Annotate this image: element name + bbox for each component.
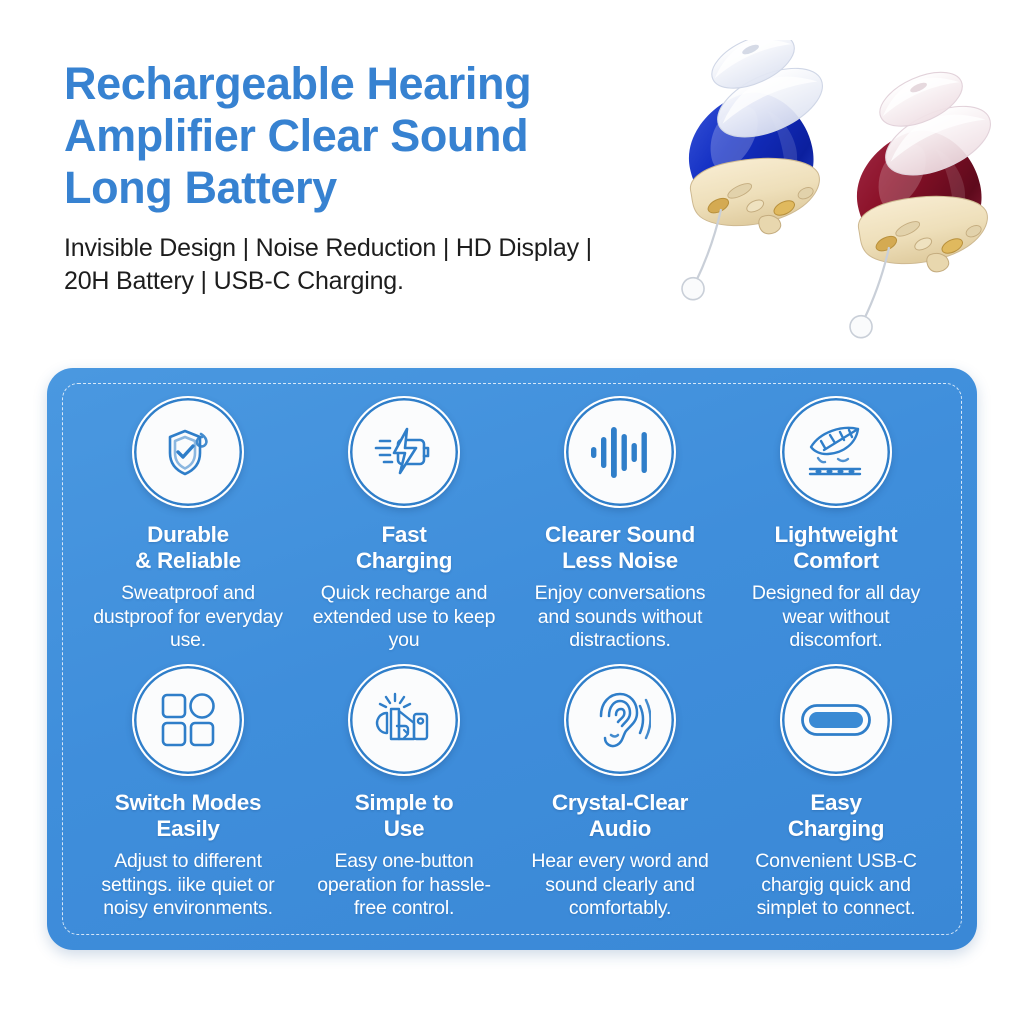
feature-title: EasyCharging <box>788 790 884 841</box>
feature-card-lightweight: LightweightComfort Designed for all day … <box>728 396 944 654</box>
feature-card-switch-modes: Switch ModesEasily Adjust to different s… <box>80 664 296 922</box>
feature-description: Hear every word and sound clearly and co… <box>518 850 722 920</box>
feature-card-crystal-clear-audio: Crystal-ClearAudio Hear every word and s… <box>512 664 728 922</box>
shield-check-waterdrop-icon <box>132 396 244 508</box>
feature-description: Designed for all day wear without discom… <box>734 582 938 652</box>
features-panel: Durable& Reliable Sweatproof and dustpro… <box>47 368 977 950</box>
feature-description: Quick recharge and extended use to keep … <box>302 582 506 652</box>
battery-lightning-fast-charge-icon <box>348 396 460 508</box>
product-image <box>615 40 1015 360</box>
feature-description: Adjust to different settings. iike quiet… <box>86 850 290 920</box>
feature-title: Crystal-ClearAudio <box>552 790 688 841</box>
features-grid: Durable& Reliable Sweatproof and dustpro… <box>80 396 944 922</box>
page-title: Rechargeable Hearing Amplifier Clear Sou… <box>64 58 634 215</box>
feature-title: Simple toUse <box>355 790 454 841</box>
feature-card-durable: Durable& Reliable Sweatproof and dustpro… <box>80 396 296 654</box>
feature-description: Easy one-button operation for hassle-fre… <box>302 850 506 920</box>
sound-wave-bars-icon <box>564 396 676 508</box>
hearing-aids-illustration <box>615 40 1015 360</box>
hero-subtitle: Invisible Design | Noise Reduction | HD … <box>64 232 634 299</box>
feature-card-easy-charging: EasyCharging Convenient USB-C chargig qu… <box>728 664 944 922</box>
feature-description: Convenient USB-C chargig quick and simpl… <box>734 850 938 920</box>
grid-modes-icon <box>132 664 244 776</box>
feature-title: Durable& Reliable <box>135 522 241 573</box>
feature-title: FastCharging <box>356 522 452 573</box>
feature-title: Clearer SoundLess Noise <box>545 522 695 573</box>
ear-sound-waves-icon <box>564 664 676 776</box>
feature-card-simple-to-use: Simple toUse Easy one-button operation f… <box>296 664 512 922</box>
feature-title: LightweightComfort <box>775 522 898 573</box>
feather-lightweight-icon <box>780 396 892 508</box>
hero-text-block: Rechargeable Hearing Amplifier Clear Sou… <box>64 58 634 299</box>
feature-description: Sweatproof and dustproof for everyday us… <box>86 582 290 652</box>
feature-card-clearer-sound: Clearer SoundLess Noise Enjoy conversati… <box>512 396 728 654</box>
feature-title: Switch ModesEasily <box>115 790 261 841</box>
feature-description: Enjoy conversations and sounds without d… <box>518 582 722 652</box>
feature-card-fast-charging: FastCharging Quick recharge and extended… <box>296 396 512 654</box>
hero-section: Rechargeable Hearing Amplifier Clear Sou… <box>0 0 1024 360</box>
usb-c-port-icon <box>780 664 892 776</box>
hand-pressing-button-icon <box>348 664 460 776</box>
